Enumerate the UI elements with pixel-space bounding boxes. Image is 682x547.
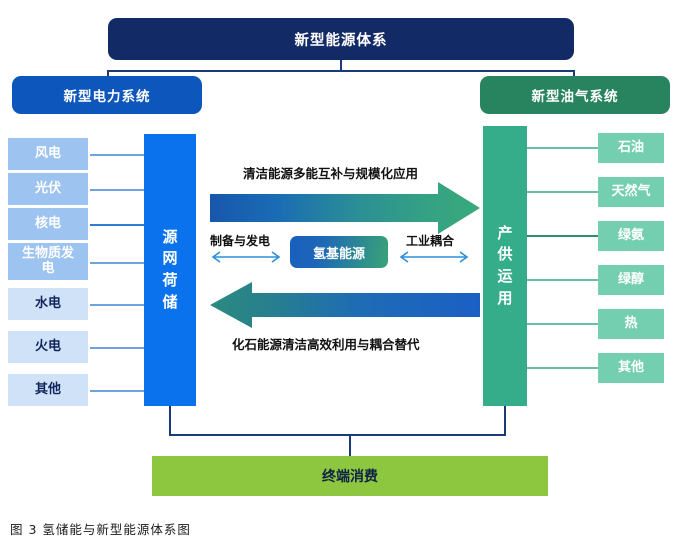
top-title-label: 新型能源体系: [295, 29, 388, 50]
connector-bottom-horizontal: [169, 434, 506, 436]
diagram-canvas: 新型能源体系 新型电力系统 新型油气系统 源 网 荷 储 产 供 运 用 风电 …: [0, 0, 682, 547]
tag-connector: [527, 235, 598, 237]
tag-nuclear-power[interactable]: 核电: [8, 208, 88, 240]
tag-hydropower[interactable]: 水电: [8, 288, 88, 320]
tag-other-gas[interactable]: 其他: [598, 353, 664, 383]
tag-label: 生物质发电: [19, 247, 77, 277]
vbar-char: 用: [497, 288, 512, 310]
top-title-box: 新型能源体系: [108, 18, 574, 60]
tag-connector: [527, 367, 598, 369]
terminal-consumption-label: 终端消费: [322, 466, 378, 486]
production-supply-transport-use-bar: 产 供 运 用: [483, 126, 527, 406]
terminal-consumption-box: 终端消费: [152, 456, 548, 496]
vbar-char: 储: [162, 292, 177, 314]
clean-energy-arrow: [210, 182, 480, 234]
tag-connector: [90, 262, 144, 264]
tag-heat[interactable]: 热: [598, 309, 664, 339]
tag-connector: [527, 191, 598, 193]
preparation-generation-label: 制备与发电: [210, 232, 270, 249]
vbar-char: 产: [497, 223, 512, 245]
tag-label: 光伏: [35, 182, 61, 197]
tag-connector: [527, 147, 598, 149]
vbar-char: 网: [162, 248, 177, 270]
left-system-box: 新型电力系统: [12, 76, 202, 114]
tag-label: 热: [624, 317, 637, 332]
tag-green-methanol[interactable]: 绿醇: [598, 265, 664, 295]
tag-connector: [90, 390, 144, 392]
tag-green-ammonia[interactable]: 绿氨: [598, 221, 664, 251]
figure-caption: 图 3 氢储能与新型能源体系图: [10, 519, 191, 538]
tag-connector: [90, 304, 144, 306]
vbar-char: 供: [497, 244, 512, 266]
connector-terminal-down: [349, 434, 351, 458]
tag-label: 绿氨: [618, 229, 644, 244]
tag-thermal-power[interactable]: 火电: [8, 331, 88, 363]
tag-connector: [90, 154, 144, 156]
tag-connector: [527, 323, 598, 325]
fossil-energy-arrow: [210, 282, 480, 328]
vbar-char: 荷: [162, 270, 177, 292]
tag-label: 其他: [35, 383, 61, 398]
tag-label: 绿醇: [618, 273, 644, 288]
tag-connector: [90, 189, 144, 191]
vbar-char: 源: [162, 227, 177, 249]
tag-label: 火电: [35, 340, 61, 355]
right-double-arrow-icon: [396, 250, 472, 264]
right-system-box: 新型油气系统: [480, 76, 670, 114]
connector-title-horizontal: [107, 70, 574, 72]
tag-label: 石油: [618, 141, 644, 156]
left-system-label: 新型电力系统: [64, 85, 151, 105]
bottom-arrow-label: 化石能源清洁高效利用与耦合替代: [232, 334, 420, 353]
top-arrow-label: 清洁能源多能互补与规模化应用: [243, 163, 418, 182]
tag-photovoltaic[interactable]: 光伏: [8, 173, 88, 205]
industrial-coupling-label: 工业耦合: [406, 232, 454, 249]
tag-connector: [527, 279, 598, 281]
right-system-label: 新型油气系统: [532, 85, 619, 105]
hydrogen-energy-label: 氢基能源: [313, 243, 365, 262]
connector-left-bar-down: [169, 406, 171, 436]
tag-label: 天然气: [611, 185, 650, 200]
tag-natural-gas[interactable]: 天然气: [598, 177, 664, 207]
tag-label: 核电: [35, 217, 61, 232]
tag-petroleum[interactable]: 石油: [598, 133, 664, 163]
source-grid-load-storage-bar: 源 网 荷 储: [144, 134, 196, 406]
left-double-arrow-icon: [208, 250, 284, 264]
tag-label: 风电: [35, 147, 61, 162]
tag-label: 水电: [35, 297, 61, 312]
tag-other-power[interactable]: 其他: [8, 374, 88, 406]
tag-connector: [90, 347, 144, 349]
connector-right-bar-down: [504, 406, 506, 436]
tag-label: 其他: [618, 361, 644, 376]
hydrogen-energy-box[interactable]: 氢基能源: [290, 236, 388, 268]
tag-biomass-power[interactable]: 生物质发电: [8, 243, 88, 280]
vbar-char: 运: [497, 266, 512, 288]
tag-wind-power[interactable]: 风电: [8, 138, 88, 170]
tag-connector: [90, 224, 144, 226]
